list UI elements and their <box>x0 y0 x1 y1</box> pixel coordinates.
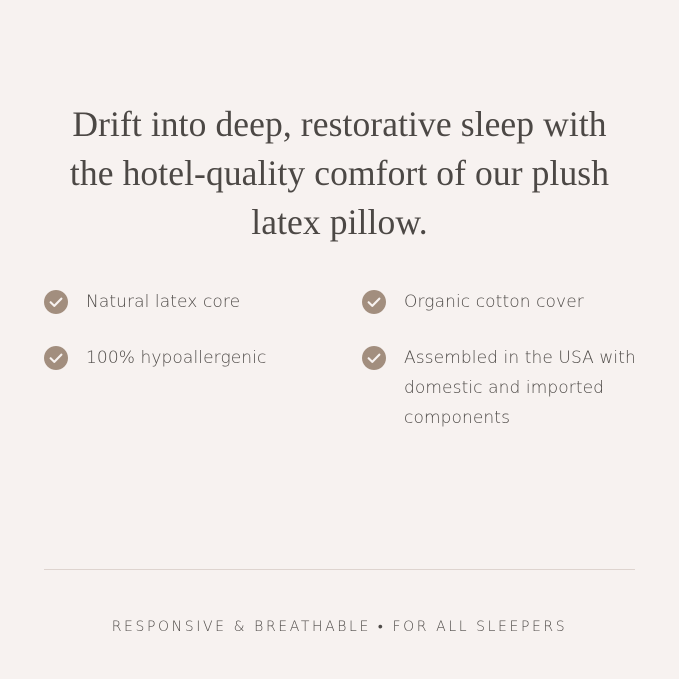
list-item: Natural latex core <box>44 287 362 343</box>
check-circle-icon <box>44 346 68 370</box>
feature-column-left: Natural latex core 100% hypoallergenic <box>44 287 362 459</box>
feature-list: Natural latex core 100% hypoallergenic O… <box>0 247 679 459</box>
list-item: Organic cotton cover <box>362 287 649 343</box>
check-circle-icon <box>362 346 386 370</box>
feature-label: Assembled in the USA with domestic and i… <box>404 343 649 433</box>
feature-label: 100% hypoallergenic <box>86 343 266 373</box>
feature-label: Organic cotton cover <box>404 287 584 317</box>
check-circle-icon <box>362 290 386 314</box>
list-item: 100% hypoallergenic <box>44 343 362 399</box>
card-footer: Responsive & Breathable • For all sleepe… <box>0 569 679 679</box>
footer-tagline: Responsive & Breathable • For all sleepe… <box>0 570 679 635</box>
list-item: Assembled in the USA with domestic and i… <box>362 343 649 459</box>
feature-column-right: Organic cotton cover Assembled in the US… <box>362 287 649 459</box>
page-title: Drift into deep, restorative sleep with … <box>0 0 679 247</box>
feature-label: Natural latex core <box>86 287 240 317</box>
check-circle-icon <box>44 290 68 314</box>
product-feature-card: Drift into deep, restorative sleep with … <box>0 0 679 679</box>
